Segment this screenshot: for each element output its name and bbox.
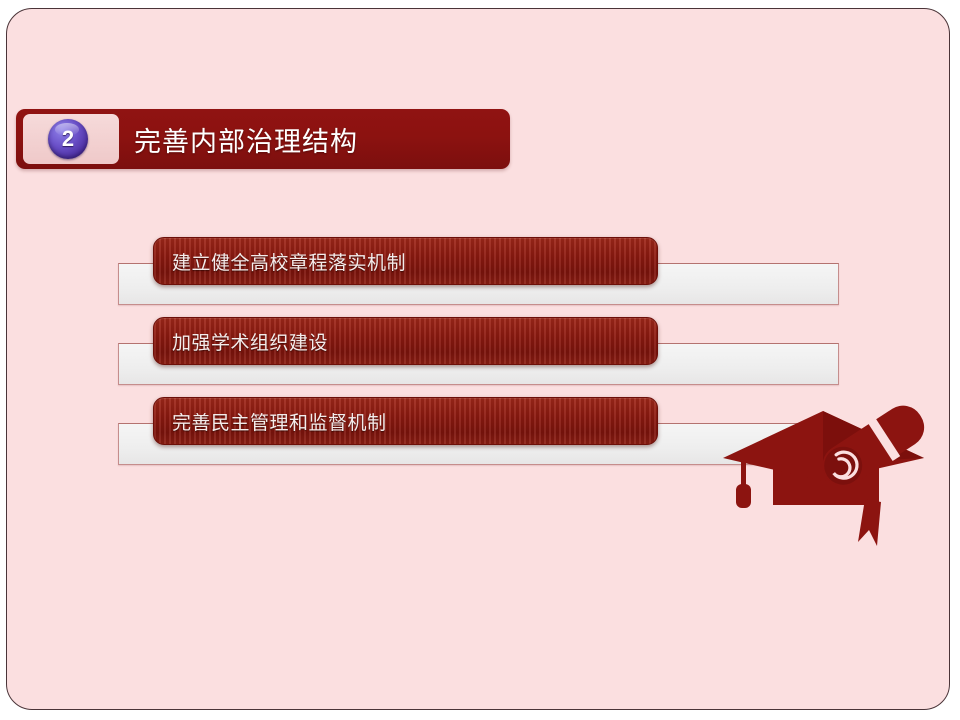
row-bar-label: 完善民主管理和监督机制	[154, 408, 387, 435]
graduation-cap-illustration	[719, 401, 937, 561]
row-bar-label: 建立健全高校章程落实机制	[154, 248, 406, 275]
slide-canvas: 2 完善内部治理结构 建立健全高校章程落实机制 加强学术组织建设 完善民主管理和…	[6, 8, 950, 710]
row-bar-label: 加强学术组织建设	[154, 328, 328, 355]
row-bar[interactable]: 建立健全高校章程落实机制	[153, 237, 658, 285]
row-bar[interactable]: 完善民主管理和监督机制	[153, 397, 658, 445]
graduation-cap-icon	[719, 401, 937, 561]
content-rows: 建立健全高校章程落实机制 加强学术组织建设 完善民主管理和监督机制	[7, 9, 949, 709]
row-bar[interactable]: 加强学术组织建设	[153, 317, 658, 365]
section-number-label: 2	[62, 128, 74, 150]
